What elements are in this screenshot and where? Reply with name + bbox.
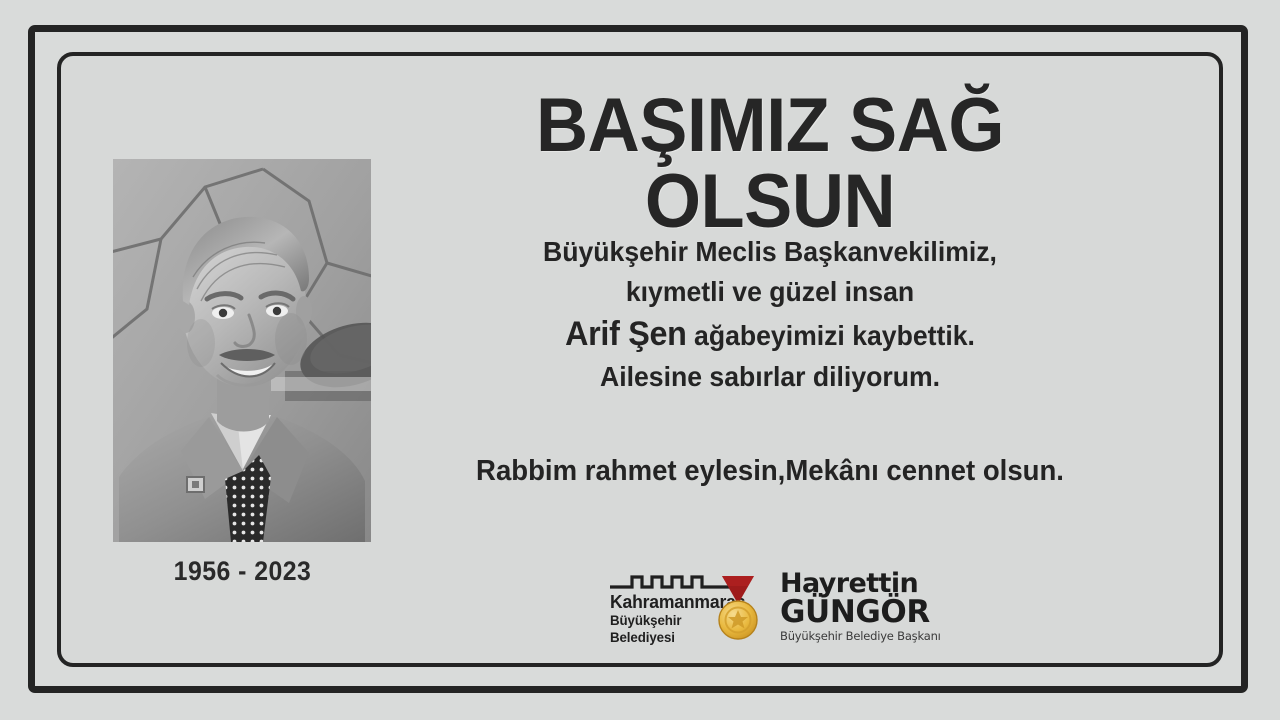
message-line-1: Büyükşehir Meclis Başkanvekilimiz, (447, 232, 1093, 272)
message-line-4: Ailesine sabırlar diliyorum. (447, 357, 1093, 397)
mayor-logo: Hayrettin GÜNGÖR Büyükşehir Belediye Baş… (780, 570, 946, 642)
memorial-poster: 1956 - 2023 BAŞIMIZ SAĞ OLSUN Büyükşehir… (0, 0, 1280, 720)
deceased-name: Arif Şen (565, 315, 687, 353)
mayor-last-name: GÜNGÖR (780, 596, 946, 629)
mayor-title: Büyükşehir Belediye Başkanı (780, 630, 946, 643)
municipality-logo: Kahramanmaraş Büyükşehir Belediyesi (608, 574, 768, 638)
municipality-name-line2: Büyükşehir Belediyesi (610, 612, 734, 646)
logo-row: Kahramanmaraş Büyükşehir Belediyesi (608, 570, 948, 642)
message-line-3-rest: ağabeyimizi kaybettik. (687, 320, 975, 351)
condolence-message: Büyükşehir Meclis Başkanvekilimiz, kıyme… (447, 232, 1093, 491)
message-line-3: Arif Şen ağabeyimizi kaybettik. (447, 312, 1093, 358)
mayor-first-name: Hayrettin (780, 570, 946, 597)
portrait-dates: 1956 - 2023 (116, 556, 369, 587)
portrait-photo (113, 159, 371, 542)
municipality-name-line1: Kahramanmaraş (610, 592, 734, 611)
page-title: BAŞIMIZ SAĞ OLSUN (419, 88, 1122, 240)
municipality-name: Kahramanmaraş Büyükşehir Belediyesi (610, 592, 734, 646)
gold-medal-icon (716, 574, 760, 642)
message-closing: Rabbim rahmet eylesin,Mekânı cennet olsu… (447, 451, 1093, 492)
message-line-2: kıymetli ve güzel insan (447, 272, 1093, 312)
